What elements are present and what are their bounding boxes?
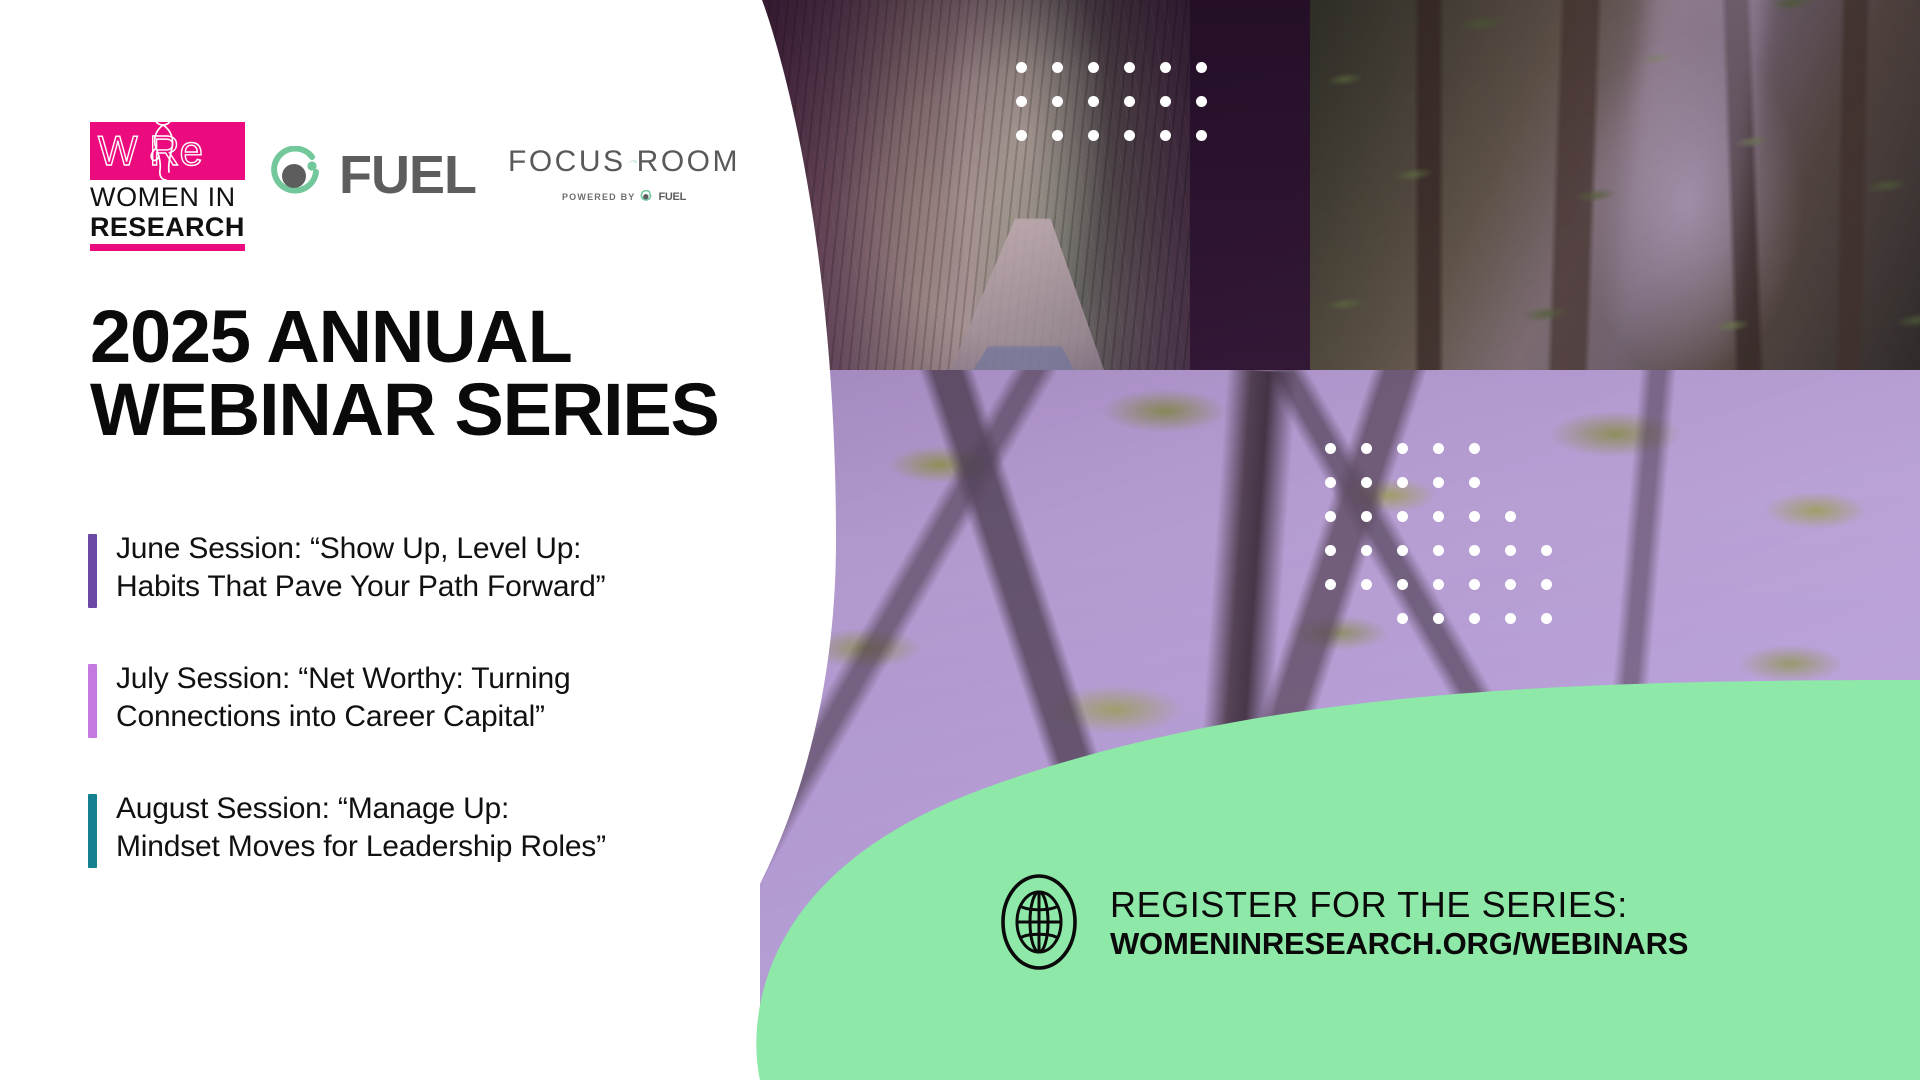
session-accent-bar-august — [88, 794, 97, 868]
fuel-logo: FUEL — [268, 144, 476, 206]
powered-by-label: POWERED BY — [562, 192, 636, 202]
register-text: REGISTER FOR THE SERIES: WOMENINRESEARCH… — [1110, 886, 1688, 963]
register-label: REGISTER FOR THE SERIES: — [1110, 886, 1688, 924]
wire-line-2: RESEARCH — [90, 212, 245, 242]
register-url[interactable]: WOMENINRESEARCH.ORG/WEBINARS — [1110, 926, 1688, 963]
wire-logo: W Re WOMEN IN RESEARCH — [90, 112, 272, 251]
room-word: ROOM — [637, 145, 740, 179]
wire-pink-rule — [90, 244, 245, 251]
session-june-line-1: June Session: “Show Up, Level Up: — [116, 530, 738, 568]
fuel-circle-icon-small — [640, 190, 653, 203]
fuel-wordmark: FUEL — [339, 144, 476, 206]
powered-by-row: POWERED BY FUEL — [508, 190, 740, 203]
powered-by-brand: FUEL — [658, 191, 686, 203]
session-accent-bar-july — [88, 664, 97, 738]
session-item-july: July Session: “Net Worthy: Turning Conne… — [88, 660, 738, 737]
dark-divider-strip — [1190, 0, 1310, 370]
focus-word: FOCUS — [508, 145, 626, 179]
focus-eye-icon — [628, 140, 637, 184]
session-accent-bar-june — [88, 534, 97, 608]
webinar-series-poster: W Re WOMEN IN RESEARCH FUEL — [0, 0, 1920, 1080]
fuel-circle-icon — [268, 146, 326, 204]
page-title: 2025 ANNUAL WEBINAR SERIES — [90, 300, 750, 447]
wire-line-2-wrap: RESEARCH — [90, 212, 272, 242]
woman-figure-icon — [142, 104, 186, 182]
session-august-line-1: August Session: “Manage Up: — [116, 790, 738, 828]
session-text-august: August Session: “Manage Up: Mindset Move… — [116, 790, 738, 867]
photo-jungle — [1310, 0, 1920, 370]
session-text-july: July Session: “Net Worthy: Turning Conne… — [116, 660, 738, 737]
session-july-line-1: July Session: “Net Worthy: Turning — [116, 660, 738, 698]
session-june-line-2: Habits That Pave Your Path Forward” — [116, 568, 738, 606]
wire-line-1: WOMEN IN — [90, 182, 272, 212]
session-august-line-2: Mindset Moves for Leadership Roles” — [116, 828, 738, 866]
logo-row: W Re WOMEN IN RESEARCH FUEL — [90, 112, 740, 237]
focus-room-logo: FOCUS ROOM POWERED BY FUEL — [508, 140, 740, 203]
globe-icon — [1000, 873, 1078, 976]
headline-line-2: WEBINAR SERIES — [90, 373, 750, 446]
register-block[interactable]: REGISTER FOR THE SERIES: WOMENINRESEARCH… — [1000, 873, 1688, 976]
session-july-line-2: Connections into Career Capital” — [116, 698, 738, 736]
session-item-june: June Session: “Show Up, Level Up: Habits… — [88, 530, 738, 607]
session-list: June Session: “Show Up, Level Up: Habits… — [88, 530, 738, 866]
session-item-august: August Session: “Manage Up: Mindset Move… — [88, 790, 738, 867]
wire-logomark: W Re — [90, 122, 245, 180]
focus-room-wordline: FOCUS ROOM — [508, 140, 740, 184]
session-text-june: June Session: “Show Up, Level Up: Habits… — [116, 530, 738, 607]
headline-line-1: 2025 ANNUAL — [90, 300, 750, 373]
